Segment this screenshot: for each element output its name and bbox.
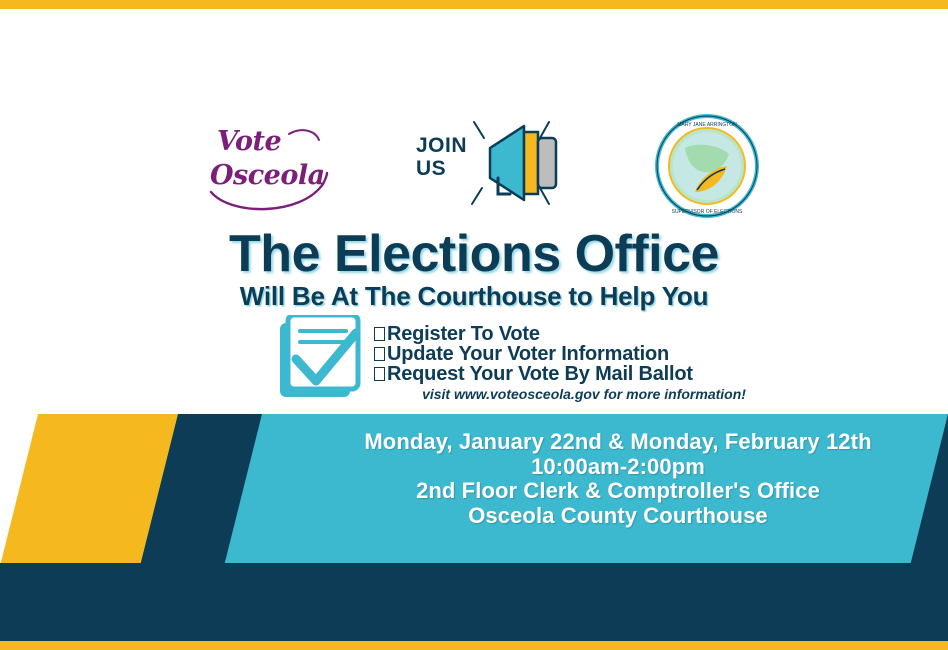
join-us-text: JOIN US	[416, 134, 467, 180]
join-us-line2: US	[416, 157, 467, 180]
services-list: Register To Vote Update Your Voter Infor…	[374, 322, 794, 382]
checklist-clipboard-icon	[272, 315, 370, 411]
bottom-navy-bar	[0, 563, 948, 641]
event-location-floor: 2nd Floor Clerk & Comptroller's Office	[268, 479, 948, 504]
vote-osceola-line2: Osceola	[210, 160, 325, 191]
details-banner: Monday, January 22nd & Monday, February …	[0, 414, 948, 566]
event-details: Monday, January 22nd & Monday, February …	[268, 430, 948, 528]
event-location-building: Osceola County Courthouse	[268, 504, 948, 529]
seal-bottom-text: SUPERVISOR OF ELECTIONS	[672, 209, 743, 215]
event-dates: Monday, January 22nd & Monday, February …	[268, 430, 948, 455]
list-item: Update Your Voter Information	[374, 342, 794, 362]
checkbox-glyph-icon	[374, 327, 385, 341]
vote-osceola-logo: Vote Osceola	[205, 112, 335, 217]
website-note: visit www.voteosceola.gov for more infor…	[374, 386, 794, 402]
checkbox-glyph-icon	[374, 347, 385, 361]
list-item-label: Register To Vote	[387, 323, 540, 345]
logo-row: Vote Osceola JO	[0, 100, 948, 225]
page-subtitle: Will Be At The Courthouse to Help You	[0, 281, 948, 312]
vote-osceola-line1: Vote	[217, 126, 281, 157]
elections-seal-logo: MARY JANE ARRINGTON SUPERVISOR OF ELECTI…	[655, 114, 759, 218]
checkbox-glyph-icon	[374, 367, 385, 381]
event-time: 10:00am-2:00pm	[268, 455, 948, 480]
list-item-label: Request Your Vote By Mail Ballot	[387, 363, 693, 385]
list-item-label: Update Your Voter Information	[387, 343, 669, 365]
top-gold-bar	[0, 0, 948, 9]
flyer-canvas: Vote Osceola JO	[0, 0, 948, 650]
list-item: Request Your Vote By Mail Ballot	[374, 362, 794, 382]
join-us-line1: JOIN	[416, 134, 467, 157]
seal-icon: MARY JANE ARRINGTON SUPERVISOR OF ELECTI…	[655, 114, 759, 218]
list-item: Register To Vote	[374, 322, 794, 342]
seal-top-text: MARY JANE ARRINGTON	[677, 122, 737, 128]
join-us-logo: JOIN US	[412, 108, 572, 218]
bottom-gold-bar	[0, 641, 948, 650]
page-title: The Elections Office	[0, 224, 948, 284]
